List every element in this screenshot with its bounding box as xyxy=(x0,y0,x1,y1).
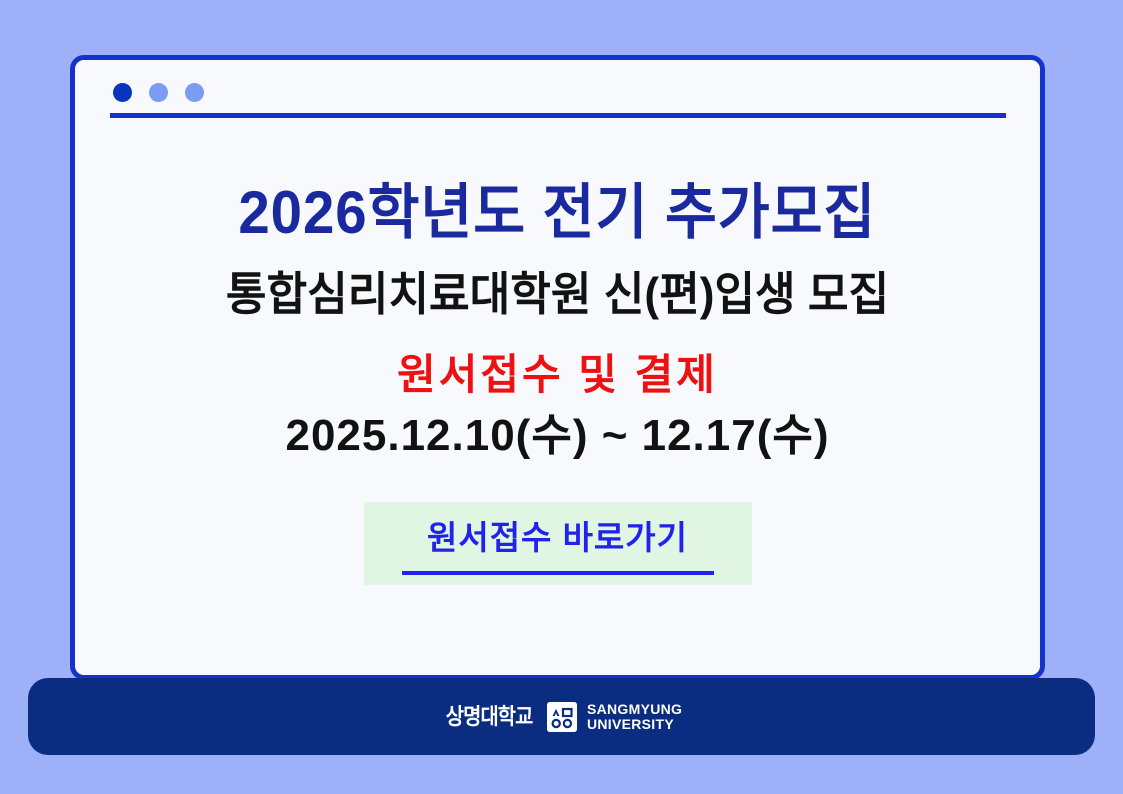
window-controls xyxy=(113,83,204,102)
cta-highlight-box: 원서접수 바로가기 xyxy=(364,502,752,586)
brand-en-line-1: SANGMYUNG xyxy=(587,702,682,717)
page-title: 2026학년도 전기 추가모집 xyxy=(239,180,877,246)
brand-en-line-2: UNIVERSITY xyxy=(587,717,682,732)
dot-minimize-icon[interactable] xyxy=(149,83,168,102)
announcement-content: 2026학년도 전기 추가모집 통합심리치료대학원 신(편)입생 모집 원서접수… xyxy=(75,180,1040,585)
apply-now-link[interactable]: 원서접수 바로가기 xyxy=(427,518,688,558)
university-brand-footer: 상명대학교 SANGMYUNG UNIVERSITY xyxy=(28,678,1095,755)
address-bar-rule xyxy=(110,113,1006,118)
program-subtitle: 통합심리치료대학원 신(편)입생 모집 xyxy=(226,268,889,321)
banner-canvas: 2026학년도 전기 추가모집 통합심리치료대학원 신(편)입생 모집 원서접수… xyxy=(0,0,1123,794)
application-emphasis-label: 원서접수 및 결제 xyxy=(397,351,718,399)
dot-close-icon[interactable] xyxy=(113,83,132,102)
dot-maximize-icon[interactable] xyxy=(185,83,204,102)
brand-lockup: 상명대학교 SANGMYUNG UNIVERSITY xyxy=(441,702,682,732)
brand-name-english: SANGMYUNG UNIVERSITY xyxy=(587,702,682,731)
browser-window-card: 2026학년도 전기 추가모집 통합심리치료대학원 신(편)입생 모집 원서접수… xyxy=(70,55,1045,680)
application-date-range: 2025.12.10(수) ~ 12.17(수) xyxy=(285,411,829,462)
cta-underline xyxy=(402,571,714,575)
brand-name-korean: 상명대학교 xyxy=(446,706,533,728)
sangmyung-emblem-icon xyxy=(547,702,577,732)
